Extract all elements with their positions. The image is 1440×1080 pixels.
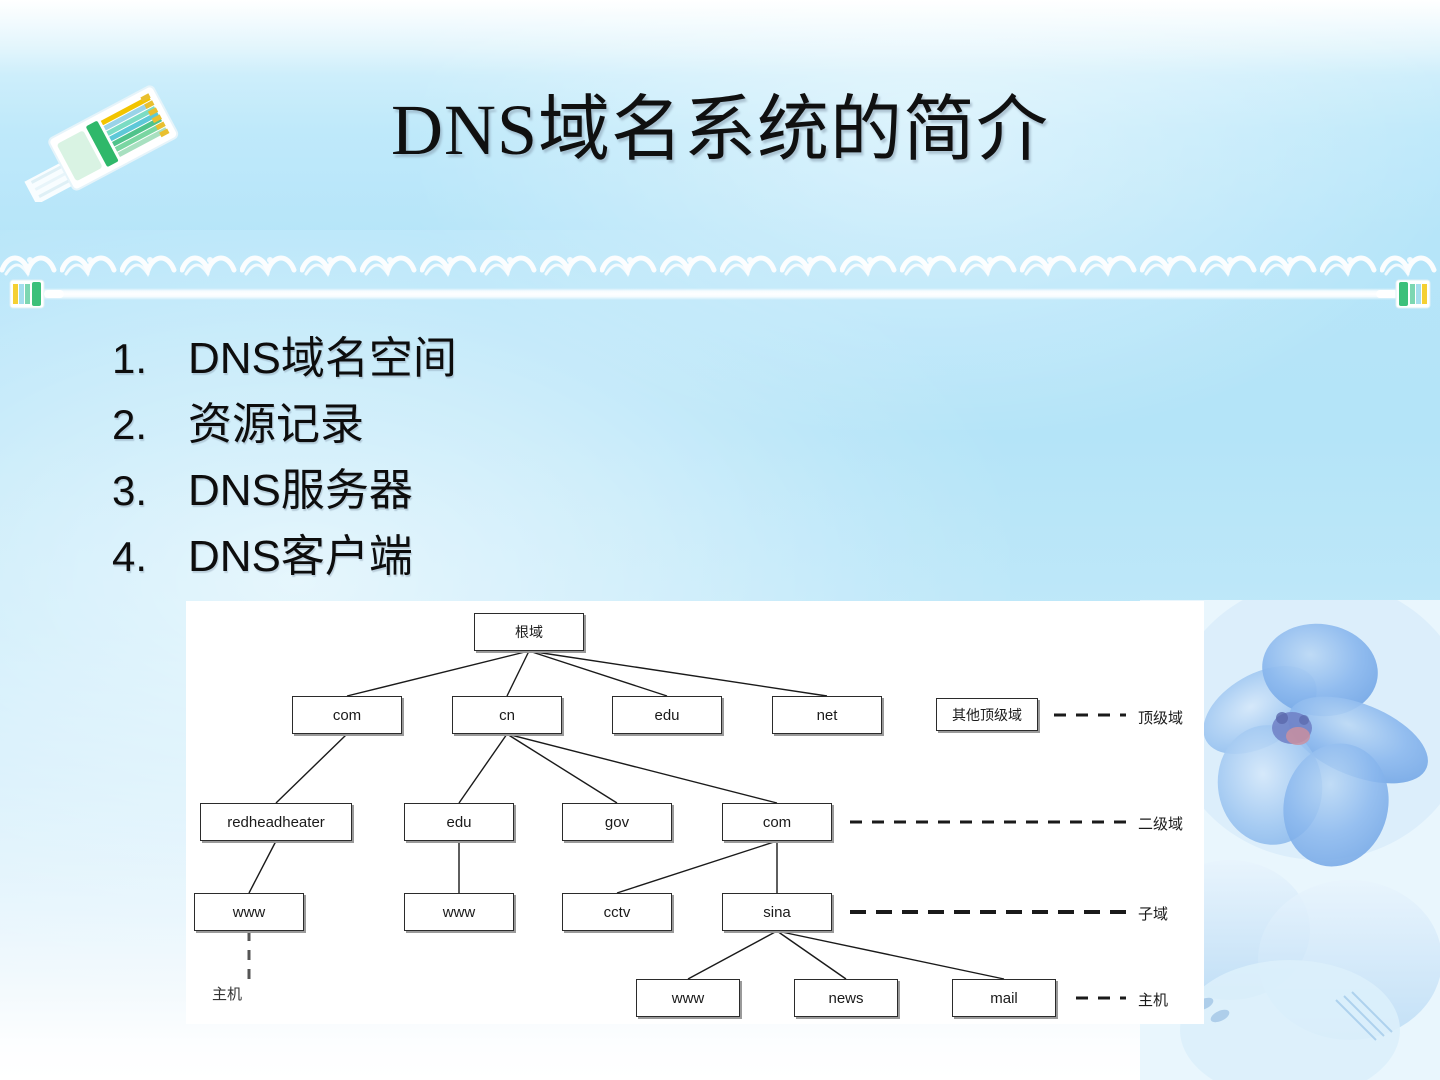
diagram-node-root: 根域 bbox=[474, 613, 584, 651]
tier-label-0: 顶级域 bbox=[1138, 707, 1183, 728]
diagram-edge bbox=[617, 841, 777, 893]
bullet-list: 1. DNS域名空间 2. 资源记录 3. DNS服务器 4. DNS客户端 bbox=[112, 322, 752, 586]
list-item-number: 4. bbox=[112, 533, 188, 581]
tier-label-3: 主机 bbox=[1138, 989, 1168, 1010]
diagram-node-sld-edu: edu bbox=[404, 803, 514, 841]
diagram-node-host-www: www bbox=[636, 979, 740, 1017]
diagram-node-host-mail: mail bbox=[952, 979, 1056, 1017]
tier-label-1: 二级域 bbox=[1138, 813, 1183, 834]
diagram-edge bbox=[529, 651, 827, 696]
rj45-plug-icon-left bbox=[8, 276, 66, 312]
diagram-node-tld-cn: cn bbox=[452, 696, 562, 734]
dns-namespace-diagram: 根域comcnedunet其他顶级域redheadheateredugovcom… bbox=[186, 601, 1204, 1024]
diagram-node-sld-com: com bbox=[722, 803, 832, 841]
tier-label-2: 子域 bbox=[1138, 903, 1168, 924]
ornamental-divider bbox=[0, 248, 1440, 282]
list-item-number: 3. bbox=[112, 467, 188, 515]
diagram-node-sub-www1: www bbox=[194, 893, 304, 931]
list-item: 3. DNS服务器 bbox=[112, 454, 752, 520]
list-item: 1. DNS域名空间 bbox=[112, 322, 752, 388]
decorative-cable-line bbox=[40, 288, 1400, 300]
diagram-node-sub-sina: sina bbox=[722, 893, 832, 931]
diagram-node-sld-redhead: redheadheater bbox=[200, 803, 352, 841]
host-label-left: 主机 bbox=[212, 983, 242, 1004]
slide-canvas: DNS域名系统的简介 1. DNS域名空间 2. 资源记录 3. DNS服务器 … bbox=[0, 0, 1440, 1080]
diagram-node-sub-cctv: cctv bbox=[562, 893, 672, 931]
diagram-node-sub-www2: www bbox=[404, 893, 514, 931]
diagram-edge bbox=[507, 651, 529, 696]
diagram-node-tld-edu: edu bbox=[612, 696, 722, 734]
diagram-node-tld-com: com bbox=[292, 696, 402, 734]
list-item: 2. 资源记录 bbox=[112, 388, 752, 454]
diagram-node-tld-other: 其他顶级域 bbox=[936, 698, 1038, 731]
list-item-label: DNS服务器 bbox=[188, 454, 413, 518]
list-item-label: DNS客户端 bbox=[188, 520, 413, 584]
diagram-node-sld-gov: gov bbox=[562, 803, 672, 841]
list-item-label: DNS域名空间 bbox=[188, 322, 457, 386]
list-item-label: 资源记录 bbox=[188, 388, 364, 452]
slide-title: DNS域名系统的简介 bbox=[0, 82, 1440, 178]
list-item: 4. DNS客户端 bbox=[112, 520, 752, 586]
diagram-node-tld-net: net bbox=[772, 696, 882, 734]
list-item-number: 1. bbox=[112, 335, 188, 383]
diagram-edge bbox=[249, 841, 276, 893]
diagram-edge bbox=[688, 931, 777, 979]
diagram-edge bbox=[507, 734, 777, 803]
list-item-number: 2. bbox=[112, 401, 188, 449]
diagram-edge bbox=[459, 734, 507, 803]
diagram-edge bbox=[276, 734, 347, 803]
rj45-plug-icon-right bbox=[1374, 276, 1432, 312]
diagram-node-host-news: news bbox=[794, 979, 898, 1017]
diagram-edge bbox=[347, 651, 529, 696]
diagram-edge bbox=[529, 651, 667, 696]
diagram-edge bbox=[507, 734, 617, 803]
